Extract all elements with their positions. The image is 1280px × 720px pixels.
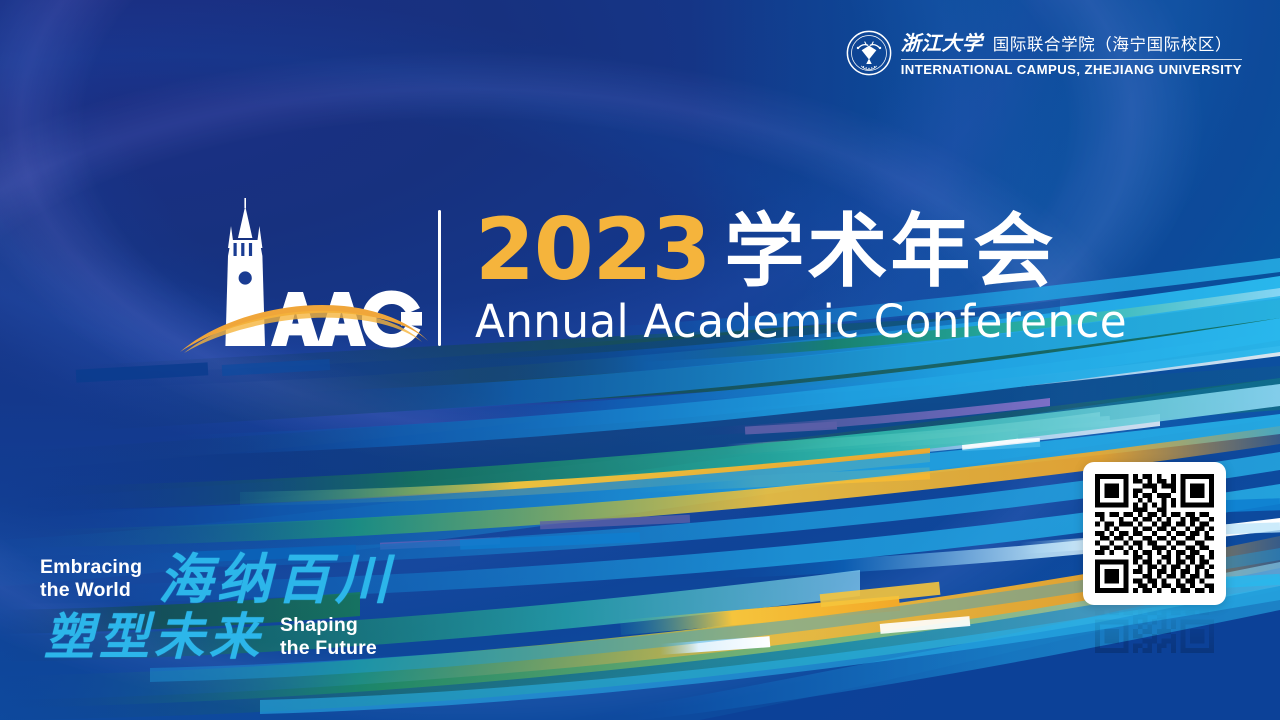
title-divider bbox=[438, 210, 441, 346]
aac-campanile-tower-icon bbox=[176, 196, 432, 358]
conference-title-en: Annual Academic Conference bbox=[475, 298, 1127, 346]
slogan-line-2: 塑型未来 Shaping the Future bbox=[44, 612, 394, 662]
slogan-cn-suxing: 塑型未来 bbox=[44, 612, 264, 662]
slogan-line-1: Embracing the World 海纳百川 bbox=[40, 552, 394, 606]
slogan-en-shaping-a: Shaping bbox=[280, 614, 358, 636]
slogan-en-shaping-b: the Future bbox=[280, 637, 377, 659]
zju-logo: 浙江大学 国际联合学院（海宁国际校区） INTERNATIONAL CAMPUS… bbox=[846, 27, 1242, 77]
slogan-block: Embracing the World 海纳百川 塑型未来 Shaping th… bbox=[40, 552, 394, 662]
title-lockup: 2023 学术年会 Annual Academic Conference bbox=[176, 196, 1147, 358]
qr-code-reflection bbox=[1083, 607, 1226, 653]
zju-divider-rule bbox=[901, 59, 1242, 60]
qr-code-icon[interactable] bbox=[1083, 462, 1226, 605]
zju-campus-name-cn: 国际联合学院（海宁国际校区） bbox=[993, 31, 1232, 55]
conference-poster: 浙江大学 国际联合学院（海宁国际校区） INTERNATIONAL CAMPUS… bbox=[0, 0, 1280, 720]
qr-code-block[interactable] bbox=[1083, 462, 1226, 653]
slogan-en-embracing: Embracing the World bbox=[40, 556, 142, 602]
slogan-cn-haina: 海纳百川 bbox=[158, 552, 394, 606]
slogan-en-embracing-a: Embracing bbox=[40, 556, 142, 578]
conference-title-cn: 学术年会 bbox=[724, 212, 1056, 292]
zju-english-name: INTERNATIONAL CAMPUS, ZHEJIANG UNIVERSIT… bbox=[901, 62, 1242, 77]
conference-year: 2023 bbox=[475, 209, 710, 292]
zhejiang-university-seal-icon bbox=[846, 30, 892, 76]
slogan-en-embracing-b: the World bbox=[40, 579, 131, 601]
slogan-en-shaping: Shaping the Future bbox=[280, 614, 377, 660]
zju-chinese-name: 浙江大学 bbox=[901, 27, 983, 56]
